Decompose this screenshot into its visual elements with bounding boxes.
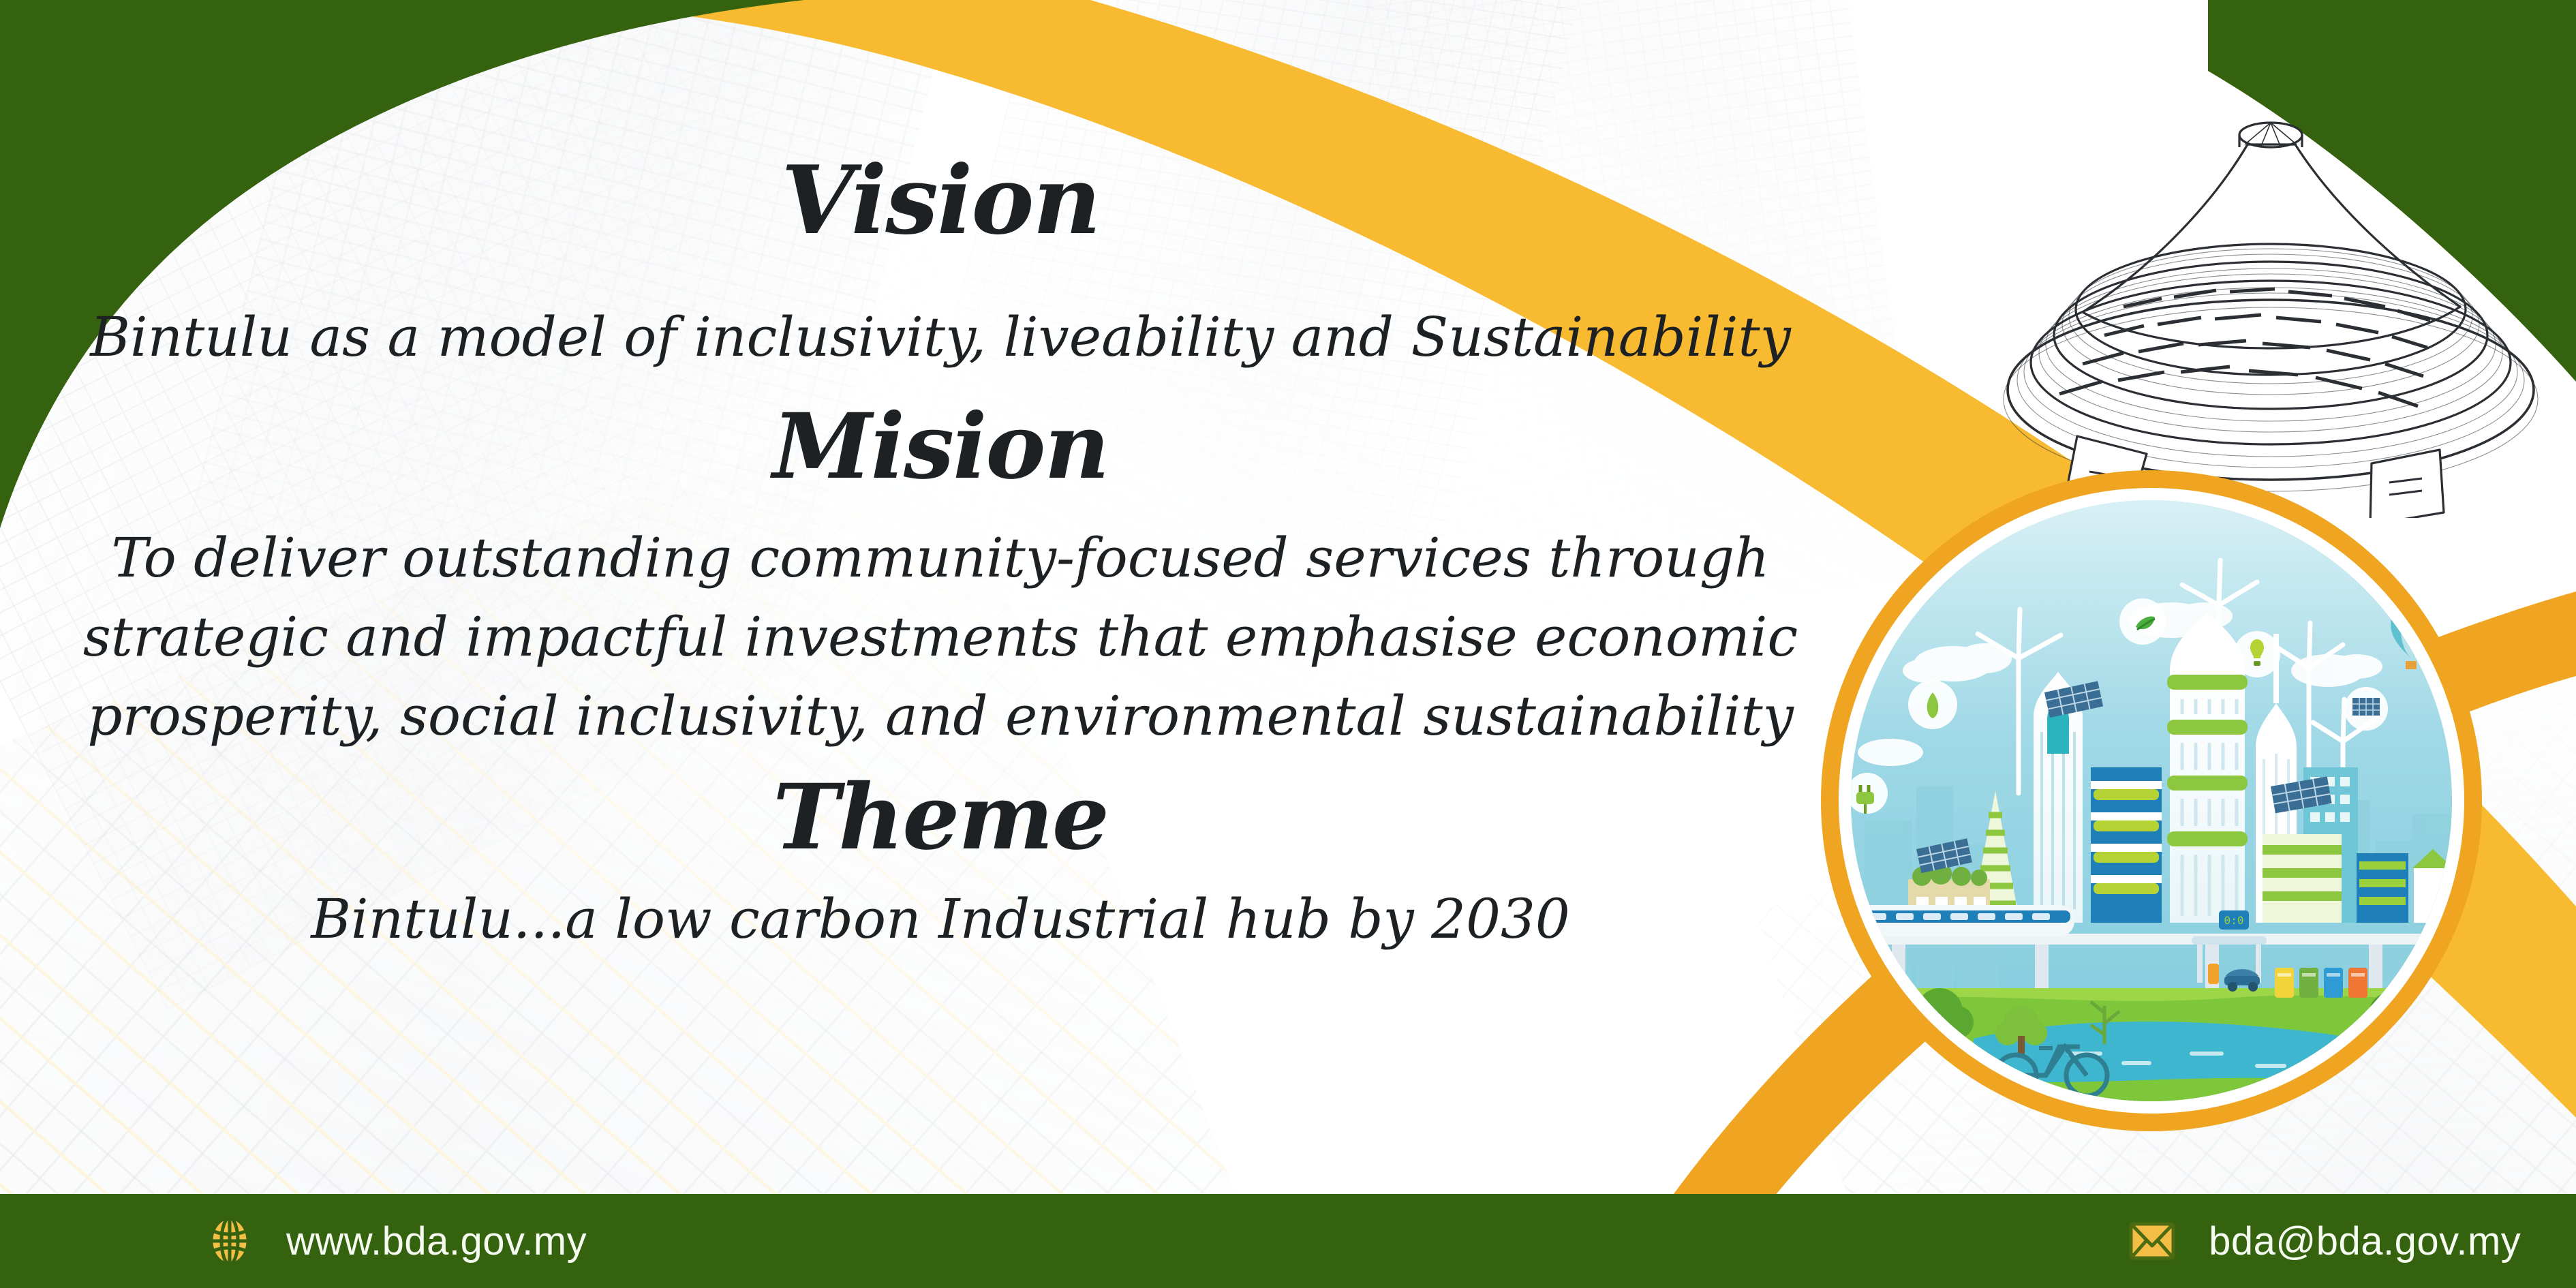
vision-heading: Vision [0, 144, 1881, 256]
email-label[interactable]: bda@bda.gov.my [2209, 1218, 2521, 1264]
vision-line-1: Bintulu as a model of inclusivity, livea… [0, 305, 1881, 369]
email-contact[interactable]: bda@bda.gov.my [2127, 1216, 2521, 1266]
eco-city-circle: 0:0 [1821, 470, 2482, 1131]
dome-building-line-art [1963, 82, 2576, 518]
globe-icon [204, 1216, 255, 1266]
website-contact[interactable]: www.bda.gov.my [204, 1216, 587, 1266]
theme-line-1: Bintulu...a low carbon Industrial hub by… [0, 887, 1881, 951]
mission-line-2: strategic and impactful investments that… [0, 605, 1881, 669]
eco-city-illustration: 0:0 [1851, 500, 2452, 1101]
banner-canvas: Vision Bintulu as a model of inclusivity… [0, 0, 2576, 1288]
contact-footer: www.bda.gov.my bda@bda.gov.my [0, 1194, 2576, 1288]
mission-line-3: prosperity, social inclusivity, and envi… [0, 684, 1881, 748]
theme-heading: Theme [0, 765, 1881, 870]
svg-text:0:0: 0:0 [2224, 914, 2244, 927]
mission-line-1: To deliver outstanding community-focused… [0, 526, 1881, 589]
mission-heading: Mision [0, 394, 1881, 500]
text-content: Vision Bintulu as a model of inclusivity… [0, 0, 1881, 1199]
website-label[interactable]: www.bda.gov.my [286, 1218, 587, 1264]
envelope-icon [2127, 1216, 2177, 1266]
